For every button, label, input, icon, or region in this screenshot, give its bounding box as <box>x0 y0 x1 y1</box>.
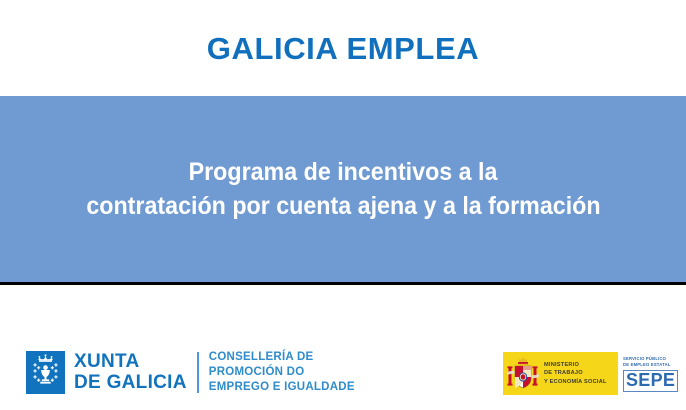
xunta-wordmark-line-1: XUNTA <box>74 352 187 373</box>
ministry-name-text: MINISTERIO DE TRABAJO Y ECONOMÍA SOCIAL <box>544 361 607 385</box>
conselleria-text: CONSELLERÍA DE PROMOCIÓN DO EMPREGO E IG… <box>209 350 355 396</box>
footer-logo-strip: XUNTA DE GALICIA CONSELLERÍA DE PROMOCIÓ… <box>0 285 686 410</box>
conselleria-line-3: EMPREGO E IGUALDADE <box>209 380 355 395</box>
logo-vertical-divider <box>197 352 199 393</box>
sepe-name-line-2: DE EMPLEO ESTATAL <box>623 362 682 368</box>
sepe-logo: SERVICIO PÚBLICO DE EMPLEO ESTATAL SEPE <box>618 352 682 395</box>
ministry-line-1: MINISTERIO <box>544 361 607 369</box>
government-logo-group: MINISTERIO DE TRABAJO Y ECONOMÍA SOCIAL … <box>503 352 682 395</box>
program-title-line-2: contratación por cuenta ajena y a la for… <box>86 190 600 223</box>
xunta-coat-of-arms-icon <box>26 351 65 394</box>
xunta-de-galicia-logo: XUNTA DE GALICIA CONSELLERÍA DE PROMOCIÓ… <box>26 350 355 396</box>
spain-coat-of-arms-icon <box>506 356 540 392</box>
program-title-band: Programa de incentivos a la contratación… <box>0 96 686 282</box>
xunta-wordmark-line-2: DE GALICIA <box>74 373 187 394</box>
ministry-logo: MINISTERIO DE TRABAJO Y ECONOMÍA SOCIAL <box>503 352 618 395</box>
header-banner: GALICIA EMPLEA <box>0 0 686 96</box>
ministry-line-2: DE TRABAJO <box>544 369 607 377</box>
page-title: GALICIA EMPLEA <box>207 33 479 64</box>
conselleria-line-1: CONSELLERÍA DE <box>209 350 355 365</box>
sepe-acronym: SEPE <box>626 371 675 390</box>
ministry-line-3: Y ECONOMÍA SOCIAL <box>544 378 607 386</box>
sepe-acronym-box: SEPE <box>623 370 678 391</box>
xunta-wordmark: XUNTA DE GALICIA <box>74 352 187 393</box>
sepe-full-name: SERVICIO PÚBLICO DE EMPLEO ESTATAL <box>623 356 682 368</box>
program-title-line-1: Programa de incentivos a la <box>189 156 498 189</box>
conselleria-line-2: PROMOCIÓN DO <box>209 365 355 380</box>
